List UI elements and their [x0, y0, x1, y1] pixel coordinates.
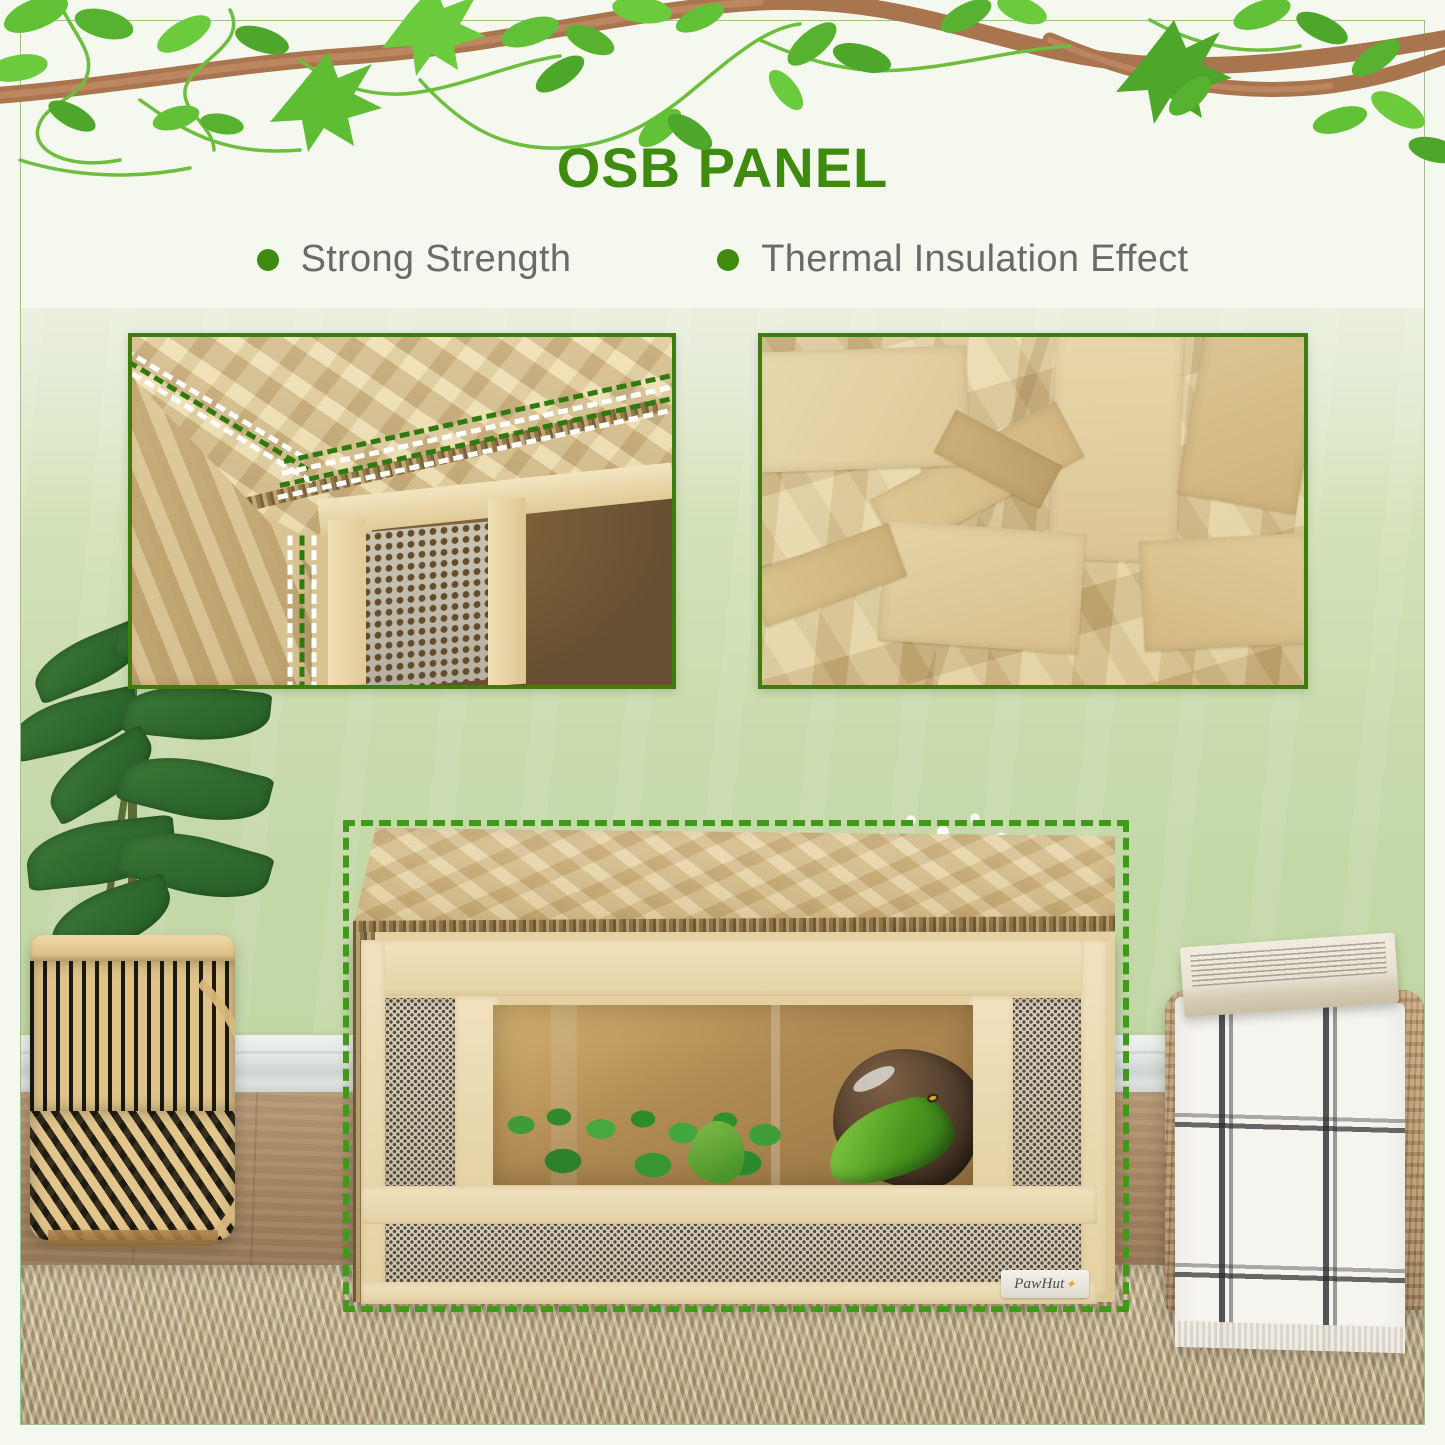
pawhut-logo-text: PawHut [1014, 1276, 1064, 1293]
pawhut-star-icon: ✦ [1066, 1277, 1076, 1292]
artificial-foliage [503, 1105, 803, 1185]
perforated-metal-mesh-bottom [381, 1218, 1085, 1292]
inset-osb-corner-photo [128, 333, 676, 689]
pine-wood-frame [969, 996, 1013, 1194]
pine-wood-frame [361, 1186, 1097, 1224]
vine-leaves-decoration [0, 0, 1445, 200]
pine-wood-frame [361, 940, 1097, 996]
inset-osb-texture-photo [758, 333, 1308, 689]
plaid-throw-blanket [1175, 997, 1405, 1353]
perforated-metal-mesh-right [1007, 998, 1085, 1190]
osb-top-lid [353, 828, 1115, 928]
wooden-reptile-enclosure: PawHut ✦ [335, 820, 1135, 1320]
perforated-metal-mesh-left [381, 998, 459, 1190]
pine-wood-frame [361, 940, 385, 1296]
infographic-canvas: PawHut ✦ OSB PANEL Strong Strength Therm… [0, 0, 1445, 1445]
open-book [1180, 933, 1399, 1018]
pine-wood-frame [361, 1282, 1097, 1304]
acrylic-viewing-window [493, 1005, 973, 1185]
pine-wood-frame [1081, 940, 1107, 1296]
rattan-basket-planter [30, 935, 235, 1240]
pawhut-logo: PawHut ✦ [1001, 1270, 1089, 1298]
vine-leaf [382, 0, 486, 76]
vine-tendril [20, 4, 1300, 175]
